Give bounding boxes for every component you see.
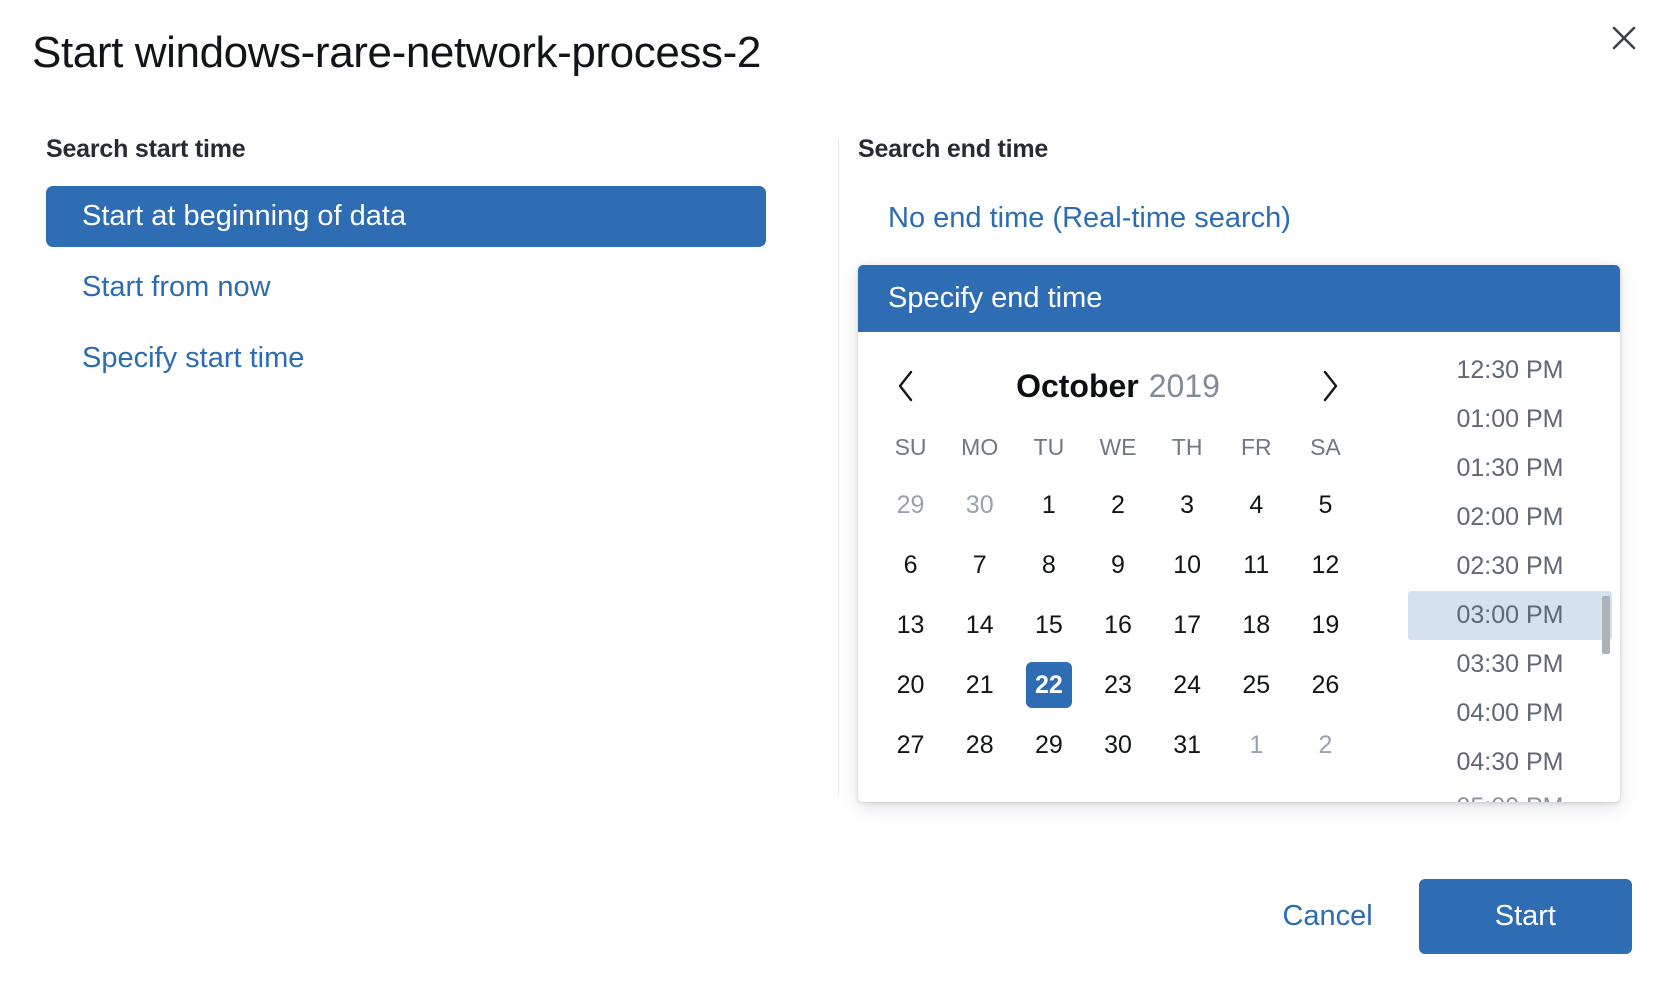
calendar-day-cell: 16 xyxy=(1083,595,1152,655)
calendar-days: 2930123456789101112131415161718192021222… xyxy=(876,475,1360,775)
weekday-header: FR xyxy=(1222,422,1291,475)
column-divider xyxy=(838,140,839,795)
calendar-day-cell: 8 xyxy=(1014,535,1083,595)
calendar-day[interactable]: 10 xyxy=(1164,542,1210,588)
calendar-day[interactable]: 8 xyxy=(1026,542,1072,588)
calendar-day-cell: 27 xyxy=(876,715,945,775)
dialog-body: Search start time Start at beginning of … xyxy=(0,135,1666,815)
calendar-day-cell: 26 xyxy=(1291,655,1360,715)
calendar-day[interactable]: 9 xyxy=(1095,542,1141,588)
calendar-day-cell: 24 xyxy=(1153,655,1222,715)
search-end-time-label: Search end time xyxy=(858,135,1618,164)
start-option-label: Specify start time xyxy=(82,342,304,374)
end-option-specify-end-time[interactable]: Specify end time xyxy=(858,265,1620,332)
chevron-right-icon[interactable] xyxy=(1308,364,1352,408)
calendar-day-cell: 22 xyxy=(1014,655,1083,715)
end-option-label: Specify end time xyxy=(888,282,1102,314)
calendar-day[interactable]: 24 xyxy=(1164,662,1210,708)
weekday-header: MO xyxy=(945,422,1014,475)
calendar-day[interactable]: 25 xyxy=(1233,662,1279,708)
calendar-day[interactable]: 2 xyxy=(1095,482,1141,528)
calendar-day-cell: 18 xyxy=(1222,595,1291,655)
start-option-specify-start-time[interactable]: Specify start time xyxy=(46,328,766,389)
weekday-header: TU xyxy=(1014,422,1083,475)
close-icon xyxy=(1609,23,1639,53)
calendar-day-selected[interactable]: 22 xyxy=(1026,662,1072,708)
calendar-day[interactable]: 7 xyxy=(957,542,1003,588)
calendar-day[interactable]: 11 xyxy=(1233,542,1279,588)
calendar-day[interactable]: 17 xyxy=(1164,602,1210,648)
calendar-day[interactable]: 1 xyxy=(1026,482,1072,528)
calendar-day[interactable]: 15 xyxy=(1026,602,1072,648)
calendar-day[interactable]: 29 xyxy=(1026,722,1072,768)
calendar-day[interactable]: 1 xyxy=(1233,722,1279,768)
calendar-day-cell: 1 xyxy=(1222,715,1291,775)
calendar-week-row: 272829303112 xyxy=(876,715,1360,775)
time-option[interactable]: 04:00 PM xyxy=(1408,689,1612,738)
calendar-day[interactable]: 26 xyxy=(1302,662,1348,708)
time-option[interactable]: 12:30 PM xyxy=(1408,346,1612,395)
calendar-day-cell: 2 xyxy=(1083,475,1152,535)
calendar-day-cell: 13 xyxy=(876,595,945,655)
start-option-from-now[interactable]: Start from now xyxy=(46,257,766,318)
calendar-day-cell: 29 xyxy=(1014,715,1083,775)
calendar-day[interactable]: 20 xyxy=(888,662,934,708)
calendar-day-cell: 11 xyxy=(1222,535,1291,595)
calendar-grid: SU MO TU WE TH FR SA 2930123456789101112… xyxy=(876,422,1360,775)
page-title: Start windows-rare-network-process-2 xyxy=(32,28,761,78)
calendar-day[interactable]: 12 xyxy=(1302,542,1348,588)
calendar-day[interactable]: 30 xyxy=(1095,722,1141,768)
calendar-day-cell: 6 xyxy=(876,535,945,595)
calendar-month: October xyxy=(1016,368,1139,404)
calendar-day[interactable]: 2 xyxy=(1302,722,1348,768)
search-end-time-column: Search end time No end time (Real-time s… xyxy=(858,135,1618,802)
calendar-day-cell: 14 xyxy=(945,595,1014,655)
calendar-year: 2019 xyxy=(1149,368,1220,404)
calendar-day-cell: 10 xyxy=(1153,535,1222,595)
search-start-time-column: Search start time Start at beginning of … xyxy=(46,135,786,389)
time-option[interactable]: 04:30 PM xyxy=(1408,738,1612,787)
calendar-day-cell: 15 xyxy=(1014,595,1083,655)
calendar-day-cell: 19 xyxy=(1291,595,1360,655)
calendar-day-cell: 4 xyxy=(1222,475,1291,535)
calendar-day[interactable]: 31 xyxy=(1164,722,1210,768)
weekday-header: SU xyxy=(876,422,945,475)
calendar-day[interactable]: 3 xyxy=(1164,482,1210,528)
search-start-time-label: Search start time xyxy=(46,135,786,164)
calendar-week-row: 13141516171819 xyxy=(876,595,1360,655)
calendar-day-cell: 2 xyxy=(1291,715,1360,775)
start-option-beginning-of-data[interactable]: Start at beginning of data xyxy=(46,186,766,247)
calendar-week-row: 293012345 xyxy=(876,475,1360,535)
time-option-highlighted[interactable]: 03:00 PM xyxy=(1408,591,1612,640)
datetime-picker: October2019 SU xyxy=(858,332,1620,802)
calendar-day[interactable]: 23 xyxy=(1095,662,1141,708)
calendar-day-cell: 30 xyxy=(1083,715,1152,775)
calendar-month-year: October2019 xyxy=(928,368,1308,405)
close-button[interactable] xyxy=(1602,16,1646,60)
calendar-day-cell: 28 xyxy=(945,715,1014,775)
calendar-week-row: 20212223242526 xyxy=(876,655,1360,715)
calendar-nav: October2019 xyxy=(876,350,1360,422)
calendar-day-cell: 31 xyxy=(1153,715,1222,775)
time-list[interactable]: 12:30 PM01:00 PM01:30 PM02:00 PM02:30 PM… xyxy=(1378,332,1620,802)
calendar-day[interactable]: 16 xyxy=(1095,602,1141,648)
calendar-day[interactable]: 28 xyxy=(957,722,1003,768)
calendar-day-cell: 9 xyxy=(1083,535,1152,595)
calendar-day-cell: 23 xyxy=(1083,655,1152,715)
calendar-day-cell: 17 xyxy=(1153,595,1222,655)
calendar-day[interactable]: 27 xyxy=(888,722,934,768)
calendar-day[interactable]: 6 xyxy=(888,542,934,588)
time-option[interactable]: 03:30 PM xyxy=(1408,640,1612,689)
calendar-day[interactable]: 5 xyxy=(1302,482,1348,528)
time-option[interactable]: 01:00 PM xyxy=(1408,395,1612,444)
end-option-label: No end time (Real-time search) xyxy=(888,202,1291,234)
calendar-day[interactable]: 21 xyxy=(957,662,1003,708)
calendar-day[interactable]: 30 xyxy=(957,482,1003,528)
calendar: October2019 SU xyxy=(858,332,1378,802)
time-list-scrollbar[interactable] xyxy=(1602,344,1610,802)
start-option-label: Start from now xyxy=(82,271,271,303)
calendar-day-cell: 29 xyxy=(876,475,945,535)
calendar-weekday-row: SU MO TU WE TH FR SA xyxy=(876,422,1360,475)
start-button[interactable]: Start xyxy=(1419,879,1632,954)
time-option[interactable]: 02:00 PM xyxy=(1408,493,1612,542)
calendar-day-cell: 1 xyxy=(1014,475,1083,535)
calendar-day[interactable]: 13 xyxy=(888,602,934,648)
calendar-day[interactable]: 14 xyxy=(957,602,1003,648)
calendar-day-cell: 20 xyxy=(876,655,945,715)
end-option-no-end-time[interactable]: No end time (Real-time search) xyxy=(858,186,1618,251)
weekday-header: TH xyxy=(1153,422,1222,475)
time-option[interactable]: 05:00 PM xyxy=(1408,787,1612,802)
weekday-header: WE xyxy=(1083,422,1152,475)
start-search-dialog: Start windows-rare-network-process-2 Sea… xyxy=(0,0,1666,994)
calendar-day-cell: 3 xyxy=(1153,475,1222,535)
calendar-day-cell: 7 xyxy=(945,535,1014,595)
calendar-day-cell: 30 xyxy=(945,475,1014,535)
calendar-day-cell: 25 xyxy=(1222,655,1291,715)
calendar-day[interactable]: 19 xyxy=(1302,602,1348,648)
cancel-button[interactable]: Cancel xyxy=(1276,890,1378,943)
calendar-day[interactable]: 29 xyxy=(888,482,934,528)
calendar-day[interactable]: 18 xyxy=(1233,602,1279,648)
start-option-label: Start at beginning of data xyxy=(82,200,406,232)
specify-end-time-card: Specify end time October2019 xyxy=(858,265,1620,802)
weekday-header: SA xyxy=(1291,422,1360,475)
scrollbar-thumb[interactable] xyxy=(1602,596,1610,654)
dialog-footer: Cancel Start xyxy=(1276,879,1632,954)
calendar-day[interactable]: 4 xyxy=(1233,482,1279,528)
calendar-day-cell: 5 xyxy=(1291,475,1360,535)
time-option[interactable]: 02:30 PM xyxy=(1408,542,1612,591)
time-option[interactable]: 01:30 PM xyxy=(1408,444,1612,493)
chevron-left-icon[interactable] xyxy=(884,364,928,408)
calendar-day-cell: 21 xyxy=(945,655,1014,715)
calendar-day-cell: 12 xyxy=(1291,535,1360,595)
calendar-week-row: 6789101112 xyxy=(876,535,1360,595)
